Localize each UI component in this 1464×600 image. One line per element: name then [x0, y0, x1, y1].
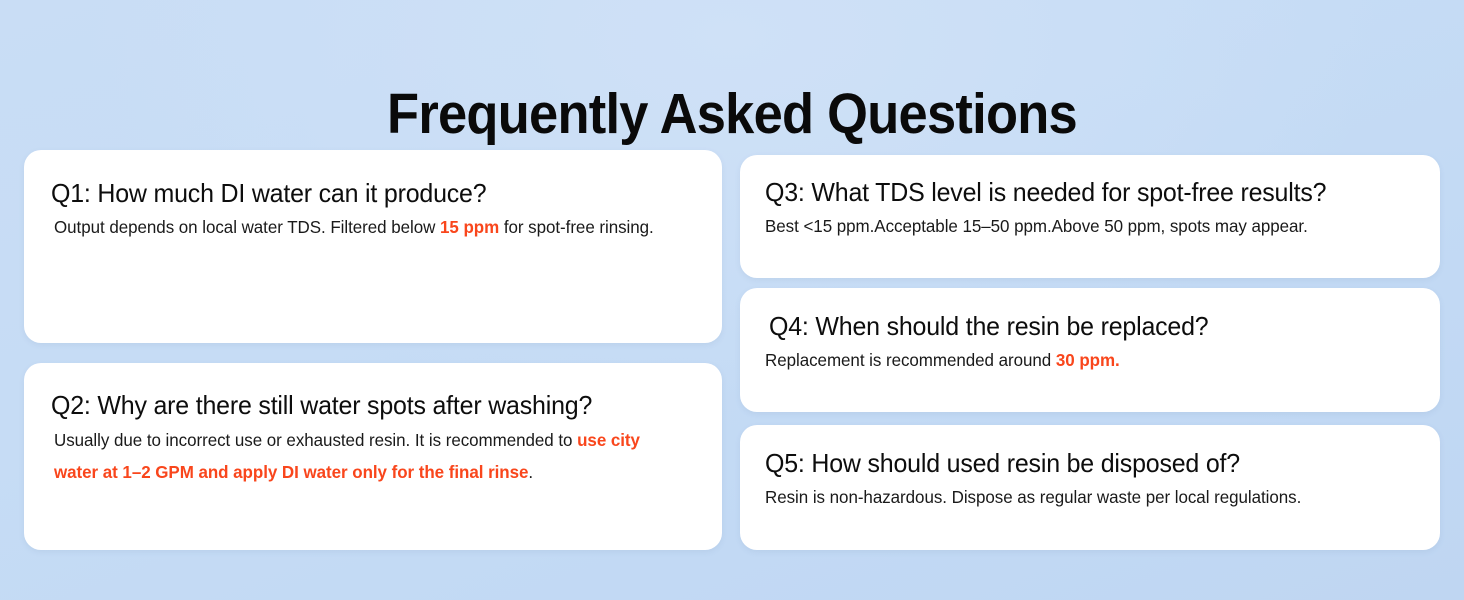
- faq-columns: Q1: How much DI water can it produce? Ou…: [0, 150, 1464, 554]
- answer-text: Output depends on local water TDS. Filte…: [54, 217, 440, 237]
- answer-text: Usually due to incorrect use or exhauste…: [54, 430, 577, 450]
- answer-text: Resin is non-hazardous. Dispose as regul…: [765, 487, 1301, 507]
- faq-question-q3: Q3: What TDS level is needed for spot-fr…: [765, 177, 1326, 208]
- answer-text: .: [528, 462, 533, 482]
- faq-card-q4[interactable]: Q4: When should the resin be replaced? R…: [740, 288, 1440, 412]
- answer-text: Best <15 ppm.Acceptable 15–50 ppm.Above …: [765, 216, 1308, 236]
- faq-card-q5[interactable]: Q5: How should used resin be disposed of…: [740, 425, 1440, 550]
- answer-text: Replacement is recommended around: [765, 350, 1056, 370]
- highlighted-text: 15 ppm: [440, 217, 499, 237]
- faq-answer-q5: Resin is non-hazardous. Dispose as regul…: [765, 482, 1405, 514]
- highlighted-text: 30 ppm.: [1056, 350, 1120, 370]
- faq-question-q4: Q4: When should the resin be replaced?: [769, 311, 1209, 342]
- faq-answer-q2: Usually due to incorrect use or exhauste…: [54, 425, 686, 489]
- faq-card-q2[interactable]: Q2: Why are there still water spots afte…: [24, 363, 722, 550]
- faq-page: Frequently Asked Questions Q1: How much …: [0, 0, 1464, 600]
- faq-question-q5: Q5: How should used resin be disposed of…: [765, 448, 1240, 479]
- faq-question-q1: Q1: How much DI water can it produce?: [51, 178, 486, 209]
- faq-card-q3[interactable]: Q3: What TDS level is needed for spot-fr…: [740, 155, 1440, 278]
- page-title: Frequently Asked Questions: [59, 86, 1406, 143]
- faq-answer-q4: Replacement is recommended around 30 ppm…: [765, 345, 1405, 377]
- faq-card-q1[interactable]: Q1: How much DI water can it produce? Ou…: [24, 150, 722, 343]
- faq-question-q2: Q2: Why are there still water spots afte…: [51, 390, 592, 421]
- faq-answer-q3: Best <15 ppm.Acceptable 15–50 ppm.Above …: [765, 211, 1405, 243]
- answer-text: for spot-free rinsing.: [499, 217, 654, 237]
- faq-answer-q1: Output depends on local water TDS. Filte…: [54, 212, 685, 244]
